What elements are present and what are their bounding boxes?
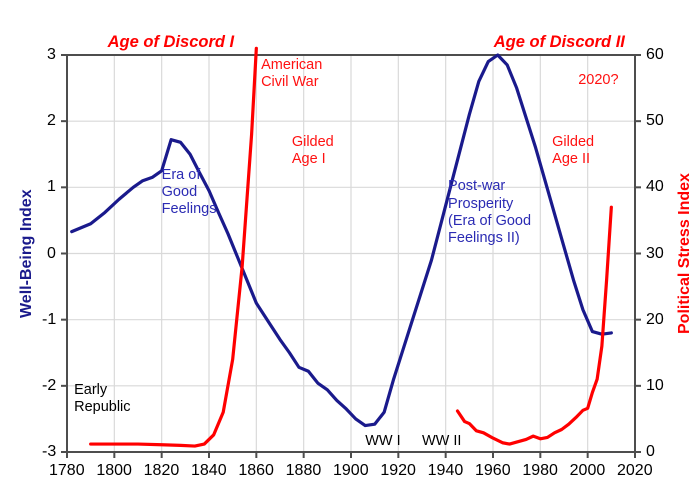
annotation-age-of-discord-1: Age of Discord I: [108, 33, 235, 52]
annotation-post-war-prosperity: Post-war Prosperity (Era of Good Feeling…: [448, 178, 531, 246]
annotation-american-civil-war: American Civil War: [261, 57, 322, 91]
annotation-era-of-good-feelings: Era of Good Feelings: [162, 167, 217, 218]
y-axis-right-title: Political Stress Index: [676, 173, 694, 334]
annotation-ww1: WW I: [365, 433, 400, 450]
y-axis-left-title: Well-Being Index: [18, 189, 36, 318]
y-axis-left-tick-label: 0: [47, 245, 56, 263]
x-axis-tick-label: 1900: [333, 462, 369, 480]
x-axis-tick-label: 1940: [428, 462, 464, 480]
x-axis-tick-label: 1780: [49, 462, 85, 480]
x-axis-tick-label: 1960: [475, 462, 511, 480]
y-axis-right-tick-label: 10: [646, 377, 664, 395]
annotation-gilded-age-1: Gilded Age I: [292, 134, 334, 168]
y-axis-right-tick-label: 50: [646, 112, 664, 130]
y-axis-right-tick-label: 30: [646, 245, 664, 263]
y-axis-right-tick-label: 20: [646, 311, 664, 329]
x-axis-tick-label: 1980: [522, 462, 558, 480]
y-axis-left-tick-label: -2: [42, 377, 56, 395]
x-axis-tick-label: 2000: [570, 462, 606, 480]
y-axis-left-tick-label: 3: [47, 46, 56, 64]
x-axis-tick-label: 1920: [380, 462, 416, 480]
y-axis-right-tick-label: 40: [646, 178, 664, 196]
annotation-ww2: WW II: [422, 433, 461, 450]
x-axis-tick-label: 1840: [191, 462, 227, 480]
annotation-age-of-discord-2: Age of Discord II: [494, 33, 625, 52]
x-axis-tick-label: 1800: [96, 462, 132, 480]
x-axis-tick-label: 1820: [144, 462, 180, 480]
y-axis-right-tick-label: 60: [646, 46, 664, 64]
annotation-year-2020-question: 2020?: [578, 72, 618, 89]
x-axis-tick-label: 1860: [238, 462, 274, 480]
y-axis-left-tick-label: 1: [47, 178, 56, 196]
annotation-gilded-age-2: Gilded Age II: [552, 134, 594, 168]
x-axis-tick-label: 2020: [617, 462, 653, 480]
y-axis-left-tick-label: -3: [42, 443, 56, 461]
y-axis-left-tick-label: 2: [47, 112, 56, 130]
y-axis-left-tick-label: -1: [42, 311, 56, 329]
x-axis-tick-label: 1880: [286, 462, 322, 480]
chart-figure: 1780180018201840186018801900192019401960…: [0, 0, 700, 502]
annotation-early-republic: Early Republic: [74, 382, 130, 416]
y-axis-right-tick-label: 0: [646, 443, 655, 461]
